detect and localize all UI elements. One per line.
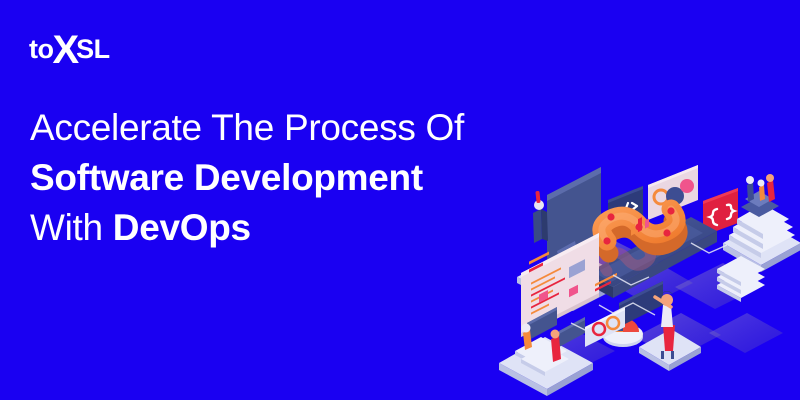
standing-figure-left: [533, 191, 548, 243]
devops-illustration: [495, 155, 800, 400]
headline-line-2: Software Development: [30, 153, 550, 203]
logo-text-to: to: [29, 36, 53, 63]
headline-line-3-bold: DevOps: [113, 207, 251, 248]
logo-text-x: X: [52, 30, 77, 70]
headline-line-3: With DevOps: [30, 203, 550, 253]
headline-line-3-regular: With: [30, 207, 113, 248]
brand-logo[interactable]: toXSL: [29, 25, 110, 59]
headline: Accelerate The Process Of Software Devel…: [30, 103, 550, 253]
logo-text-sl: SL: [76, 36, 110, 63]
devops-banner: toXSL Accelerate The Process Of Software…: [0, 0, 800, 400]
headline-line-1: Accelerate The Process Of: [30, 103, 550, 153]
seated-figures-right: [746, 174, 775, 202]
